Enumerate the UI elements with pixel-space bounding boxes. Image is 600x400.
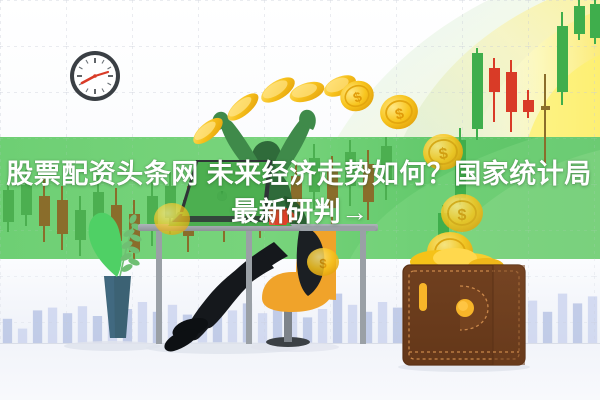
wallet-card-tab	[419, 283, 427, 311]
coin-face-4: $	[441, 194, 483, 232]
candle	[574, 0, 585, 40]
scene-illustration: $ $ $ $	[0, 0, 600, 400]
candle	[590, 0, 600, 44]
svg-text:$: $	[319, 256, 327, 271]
desk-side-bracket	[300, 226, 376, 231]
wallet-flap	[493, 265, 525, 365]
desk-leg-left	[156, 231, 162, 344]
plant-shadow	[64, 341, 160, 351]
candle	[472, 48, 483, 140]
svg-text:$: $	[458, 207, 467, 224]
coin-face-6	[154, 203, 190, 235]
banner-image: $ $ $ $	[0, 0, 600, 400]
wall-clock	[70, 51, 120, 101]
coin-face-7: $	[307, 248, 339, 276]
leather-wallet	[403, 265, 525, 365]
desk-leg-right	[360, 231, 366, 344]
desk-leg-mid	[246, 231, 252, 344]
wallet-clasp-highlight	[458, 301, 468, 311]
